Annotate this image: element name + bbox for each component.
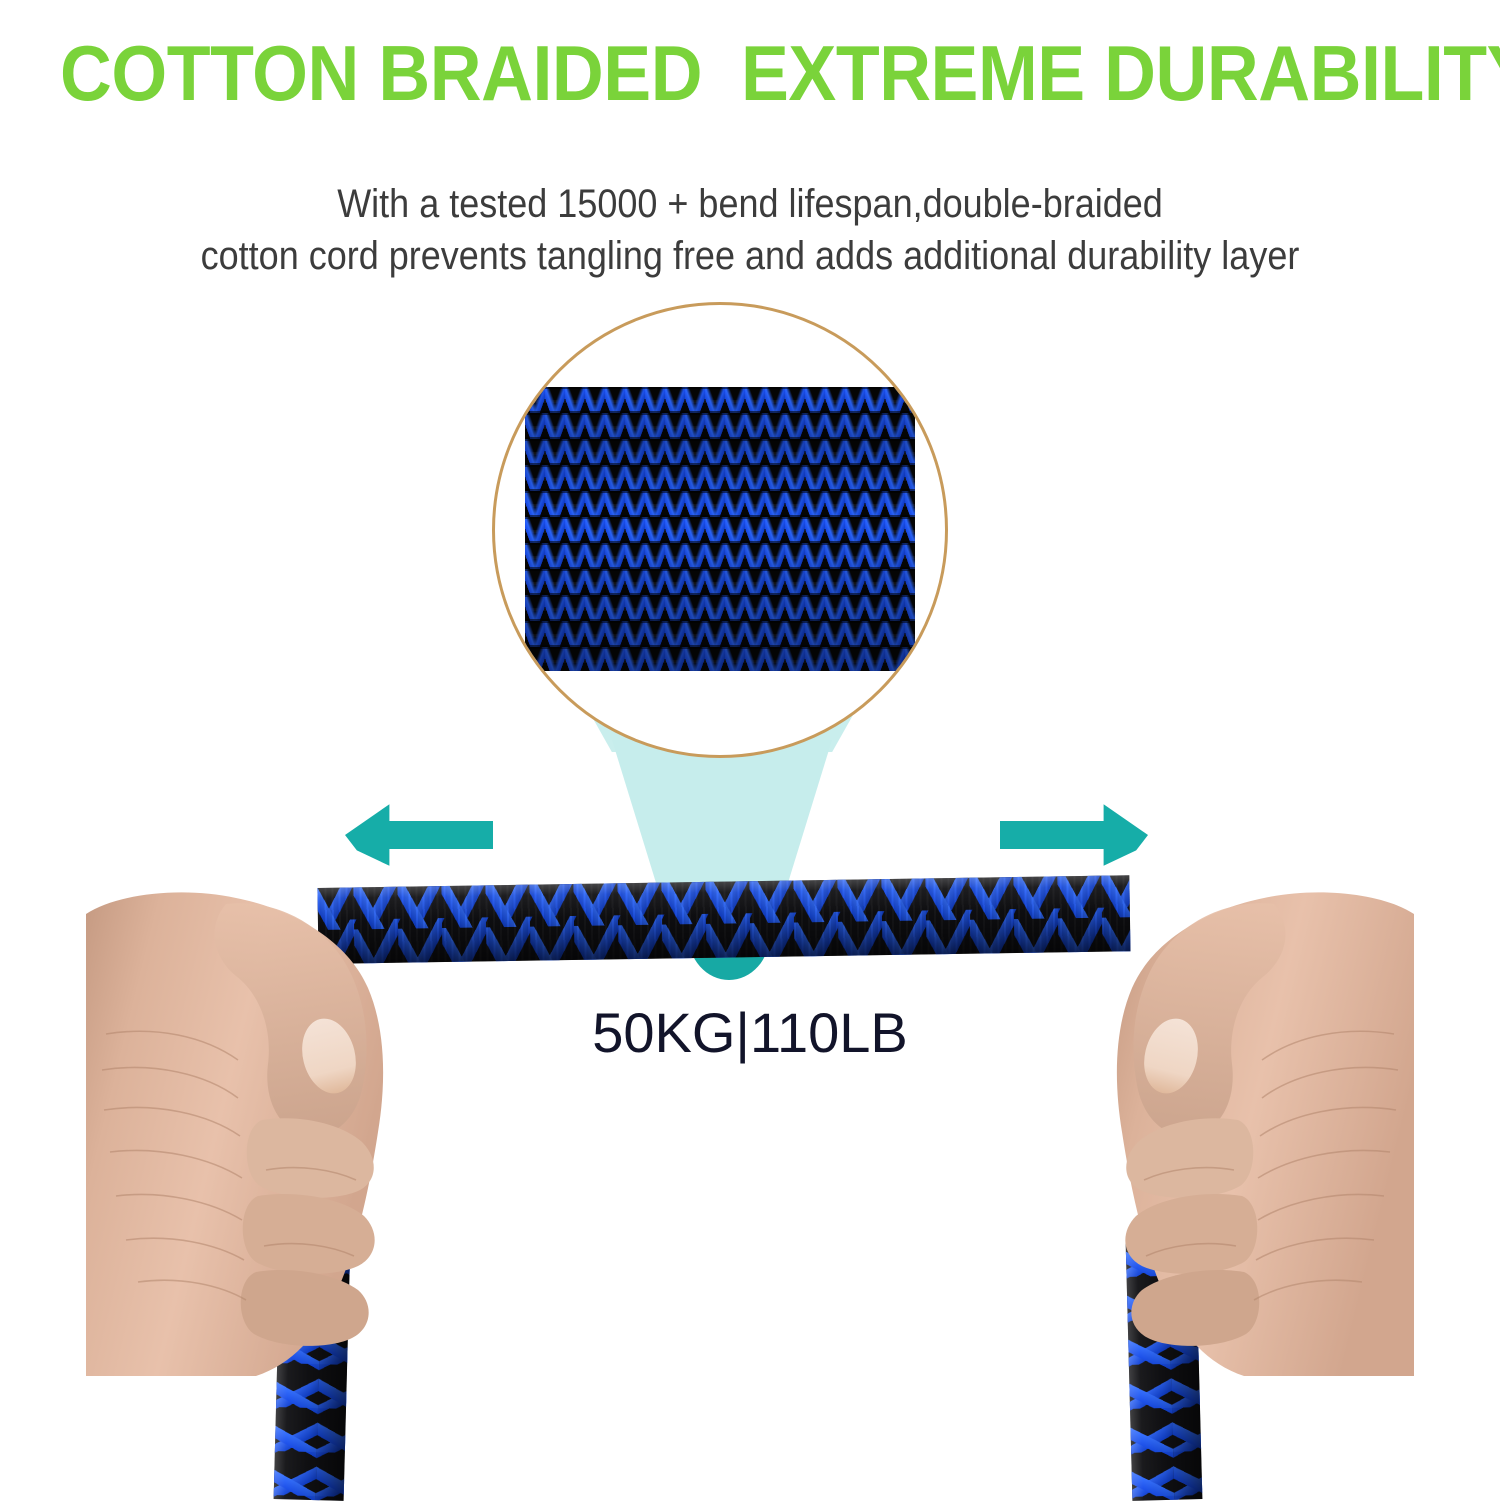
braid-texture-closeup (525, 387, 915, 671)
arrow-left-icon (345, 800, 493, 870)
hand-left-fist (86, 884, 416, 1384)
braid-chevron-pattern (525, 387, 915, 671)
braid-shading-overlay (525, 387, 915, 671)
weight-capacity-label: 50KG|110LB (0, 1000, 1500, 1065)
cable-shading (317, 875, 1130, 964)
page-title: COTTON BRAIDED EXTREME DURABILITY (60, 30, 1440, 116)
subtitle-text: With a tested 15000 + bend lifespan,doub… (75, 178, 1425, 282)
magnifier-cone-upper (560, 660, 884, 752)
magnifier-circle (492, 302, 948, 758)
cable-horizontal (317, 875, 1130, 964)
hand-right-fist (1084, 884, 1414, 1384)
braid-row-separators (525, 387, 915, 671)
arrow-right-icon (1000, 800, 1148, 870)
